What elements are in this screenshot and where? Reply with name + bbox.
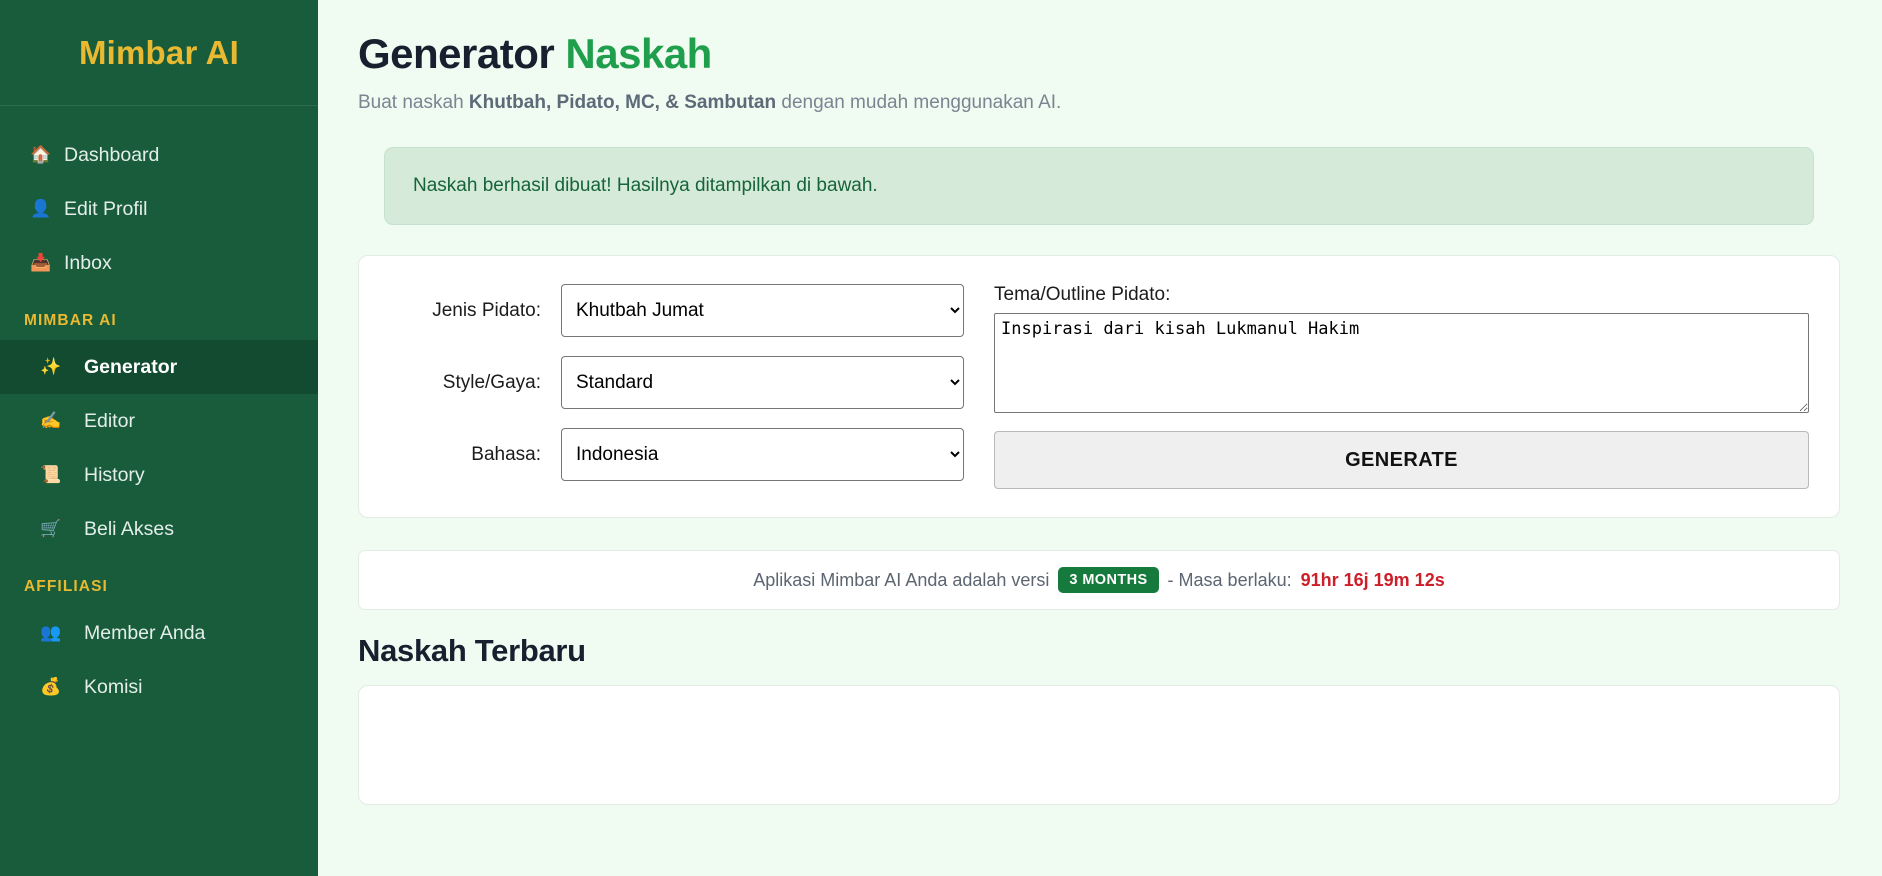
sidebar: Mimbar AI 🏠 Dashboard 👤 Edit Profil 📥 In… bbox=[0, 0, 318, 876]
sidebar-item-label: Beli Akses bbox=[84, 518, 174, 541]
version-status-bar: Aplikasi Mimbar AI Anda adalah versi 3 M… bbox=[358, 550, 1840, 610]
app-root: Mimbar AI 🏠 Dashboard 👤 Edit Profil 📥 In… bbox=[0, 0, 1882, 876]
style-gaya-select[interactable]: Standard bbox=[561, 356, 964, 409]
sidebar-item-beli-akses[interactable]: 🛒 Beli Akses bbox=[0, 502, 318, 556]
page-title: Generator Naskah bbox=[358, 30, 1840, 78]
brand-title: Mimbar AI bbox=[79, 34, 239, 72]
page-title-plain: Generator bbox=[358, 30, 554, 77]
version-prefix-text: Aplikasi Mimbar AI Anda adalah versi bbox=[753, 570, 1049, 591]
expiry-countdown: 91hr 16j 19m 12s bbox=[1301, 570, 1445, 591]
sidebar-item-label: Member Anda bbox=[84, 622, 205, 645]
style-gaya-label: Style/Gaya: bbox=[389, 372, 541, 394]
sidebar-section-affiliasi: AFFILIASI bbox=[0, 556, 318, 606]
money-bag-icon: 💰 bbox=[40, 677, 84, 697]
sidebar-item-label: Editor bbox=[84, 410, 135, 433]
field-bahasa: Bahasa: Indonesia bbox=[389, 428, 964, 481]
people-icon: 👥 bbox=[40, 623, 84, 643]
sidebar-item-label: Komisi bbox=[84, 676, 143, 699]
sidebar-nav: 🏠 Dashboard 👤 Edit Profil 📥 Inbox MIMBAR… bbox=[0, 106, 318, 876]
house-icon: 🏠 bbox=[30, 145, 64, 165]
success-alert-text: Naskah berhasil dibuat! Hasilnya ditampi… bbox=[413, 175, 878, 196]
recent-scripts-title: Naskah Terbaru bbox=[358, 633, 1840, 669]
form-left-column: Jenis Pidato: Khutbah Jumat Style/Gaya: … bbox=[389, 284, 964, 489]
brand-header: Mimbar AI bbox=[0, 0, 318, 106]
user-icon: 👤 bbox=[30, 199, 64, 219]
recent-scripts-card bbox=[358, 685, 1840, 805]
main-content: Generator Naskah Buat naskah Khutbah, Pi… bbox=[318, 0, 1882, 876]
jenis-pidato-label: Jenis Pidato: bbox=[389, 300, 541, 322]
sidebar-item-dashboard[interactable]: 🏠 Dashboard bbox=[0, 128, 318, 182]
scroll-icon: 📜 bbox=[40, 465, 84, 485]
success-alert: Naskah berhasil dibuat! Hasilnya ditampi… bbox=[384, 147, 1814, 225]
sidebar-item-label: Edit Profil bbox=[64, 198, 147, 221]
page-subtitle: Buat naskah Khutbah, Pidato, MC, & Sambu… bbox=[358, 92, 1840, 114]
bahasa-label: Bahasa: bbox=[389, 444, 541, 466]
field-jenis-pidato: Jenis Pidato: Khutbah Jumat bbox=[389, 284, 964, 337]
jenis-pidato-select[interactable]: Khutbah Jumat bbox=[561, 284, 964, 337]
page-title-accent: Naskah bbox=[565, 30, 711, 77]
shopping-cart-icon: 🛒 bbox=[40, 519, 84, 539]
field-style-gaya: Style/Gaya: Standard bbox=[389, 356, 964, 409]
sidebar-item-history[interactable]: 📜 History bbox=[0, 448, 318, 502]
tema-outline-textarea[interactable]: Inspirasi dari kisah Lukmanul Hakim bbox=[994, 313, 1809, 413]
tema-outline-label: Tema/Outline Pidato: bbox=[994, 284, 1809, 306]
form-right-column: Tema/Outline Pidato: Inspirasi dari kisa… bbox=[994, 284, 1809, 489]
inbox-icon: 📥 bbox=[30, 253, 64, 273]
sidebar-item-editor[interactable]: ✍️ Editor bbox=[0, 394, 318, 448]
sidebar-item-label: Inbox bbox=[64, 252, 112, 275]
writing-hand-icon: ✍️ bbox=[40, 411, 84, 431]
sidebar-item-edit-profil[interactable]: 👤 Edit Profil bbox=[0, 182, 318, 236]
sidebar-item-label: Generator bbox=[84, 356, 177, 379]
sidebar-item-label: Dashboard bbox=[64, 144, 159, 167]
sparkles-icon: ✨ bbox=[40, 357, 84, 377]
version-middle-text: - Masa berlaku: bbox=[1168, 570, 1292, 591]
generate-button[interactable]: GENERATE bbox=[994, 431, 1809, 489]
subtitle-post: dengan mudah menggunakan AI. bbox=[776, 92, 1061, 113]
sidebar-item-generator[interactable]: ✨ Generator bbox=[0, 340, 318, 394]
sidebar-section-mimbar-ai: MIMBAR AI bbox=[0, 290, 318, 340]
subtitle-pre: Buat naskah bbox=[358, 92, 469, 113]
version-badge: 3 MONTHS bbox=[1058, 567, 1158, 593]
sidebar-item-label: History bbox=[84, 464, 145, 487]
subtitle-bold: Khutbah, Pidato, MC, & Sambutan bbox=[469, 92, 776, 113]
sidebar-item-inbox[interactable]: 📥 Inbox bbox=[0, 236, 318, 290]
sidebar-item-komisi[interactable]: 💰 Komisi bbox=[0, 660, 318, 714]
sidebar-item-member-anda[interactable]: 👥 Member Anda bbox=[0, 606, 318, 660]
generator-form-card: Jenis Pidato: Khutbah Jumat Style/Gaya: … bbox=[358, 255, 1840, 518]
bahasa-select[interactable]: Indonesia bbox=[561, 428, 964, 481]
